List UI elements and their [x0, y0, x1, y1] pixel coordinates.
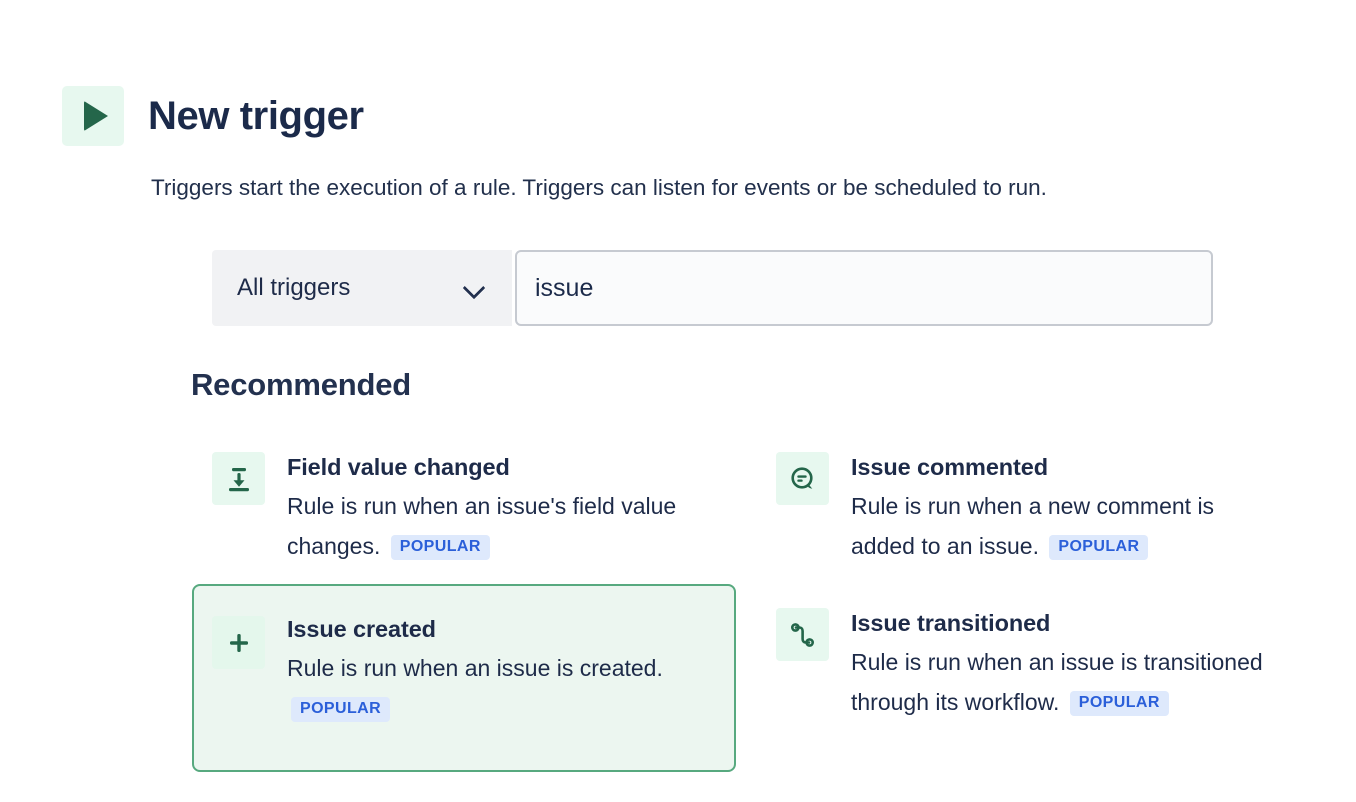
search-input[interactable] [535, 274, 1193, 303]
trigger-card-description: Rule is run when an issue is created. [287, 655, 663, 681]
trigger-card-title: Field value changed [287, 448, 720, 486]
recommended-heading: Recommended [191, 367, 411, 403]
status-badge: POPULAR [291, 697, 390, 722]
trigger-card-content: Issue transitioned Rule is run when an i… [851, 602, 1284, 722]
trigger-card-content: Issue commented Rule is run when a new c… [851, 446, 1284, 566]
plus-icon [212, 616, 265, 669]
status-badge: POPULAR [1070, 691, 1169, 716]
trigger-type-select[interactable]: All triggers [212, 250, 512, 326]
page-header: New trigger [62, 86, 364, 146]
trigger-card-issue-commented[interactable]: Issue commented Rule is run when a new c… [756, 428, 1300, 584]
status-badge: POPULAR [391, 535, 490, 560]
page-subtitle: Triggers start the execution of a rule. … [151, 172, 1047, 204]
page-title: New trigger [148, 96, 364, 136]
trigger-card-issue-transitioned[interactable]: Issue transitioned Rule is run when an i… [756, 584, 1300, 740]
play-icon [62, 86, 124, 146]
branch-transition-icon [776, 608, 829, 661]
comment-icon [776, 452, 829, 505]
trigger-card-field-value-changed[interactable]: Field value changed Rule is run when an … [192, 428, 736, 584]
trigger-card-content: Field value changed Rule is run when an … [287, 446, 720, 566]
chevron-down-icon [464, 277, 486, 299]
trigger-card-title: Issue transitioned [851, 604, 1284, 642]
trigger-card-description: Rule is run when an issue is transitione… [851, 649, 1263, 715]
trigger-type-select-value: All triggers [237, 274, 350, 302]
trigger-card-content: Issue created Rule is run when an issue … [287, 602, 720, 728]
trigger-card-title: Issue created [287, 610, 720, 648]
search-box[interactable] [515, 250, 1213, 326]
filter-row: All triggers [212, 250, 1213, 326]
trigger-card-description: Rule is run when a new comment is added … [851, 493, 1214, 559]
play-triangle-icon [84, 101, 108, 131]
trigger-card-issue-created[interactable]: Issue created Rule is run when an issue … [192, 584, 736, 772]
trigger-card-grid: Field value changed Rule is run when an … [192, 428, 1302, 772]
trigger-card-title: Issue commented [851, 448, 1284, 486]
status-badge: POPULAR [1049, 535, 1148, 560]
field-value-changed-icon [212, 452, 265, 505]
new-trigger-page: New trigger Triggers start the execution… [0, 0, 1356, 802]
